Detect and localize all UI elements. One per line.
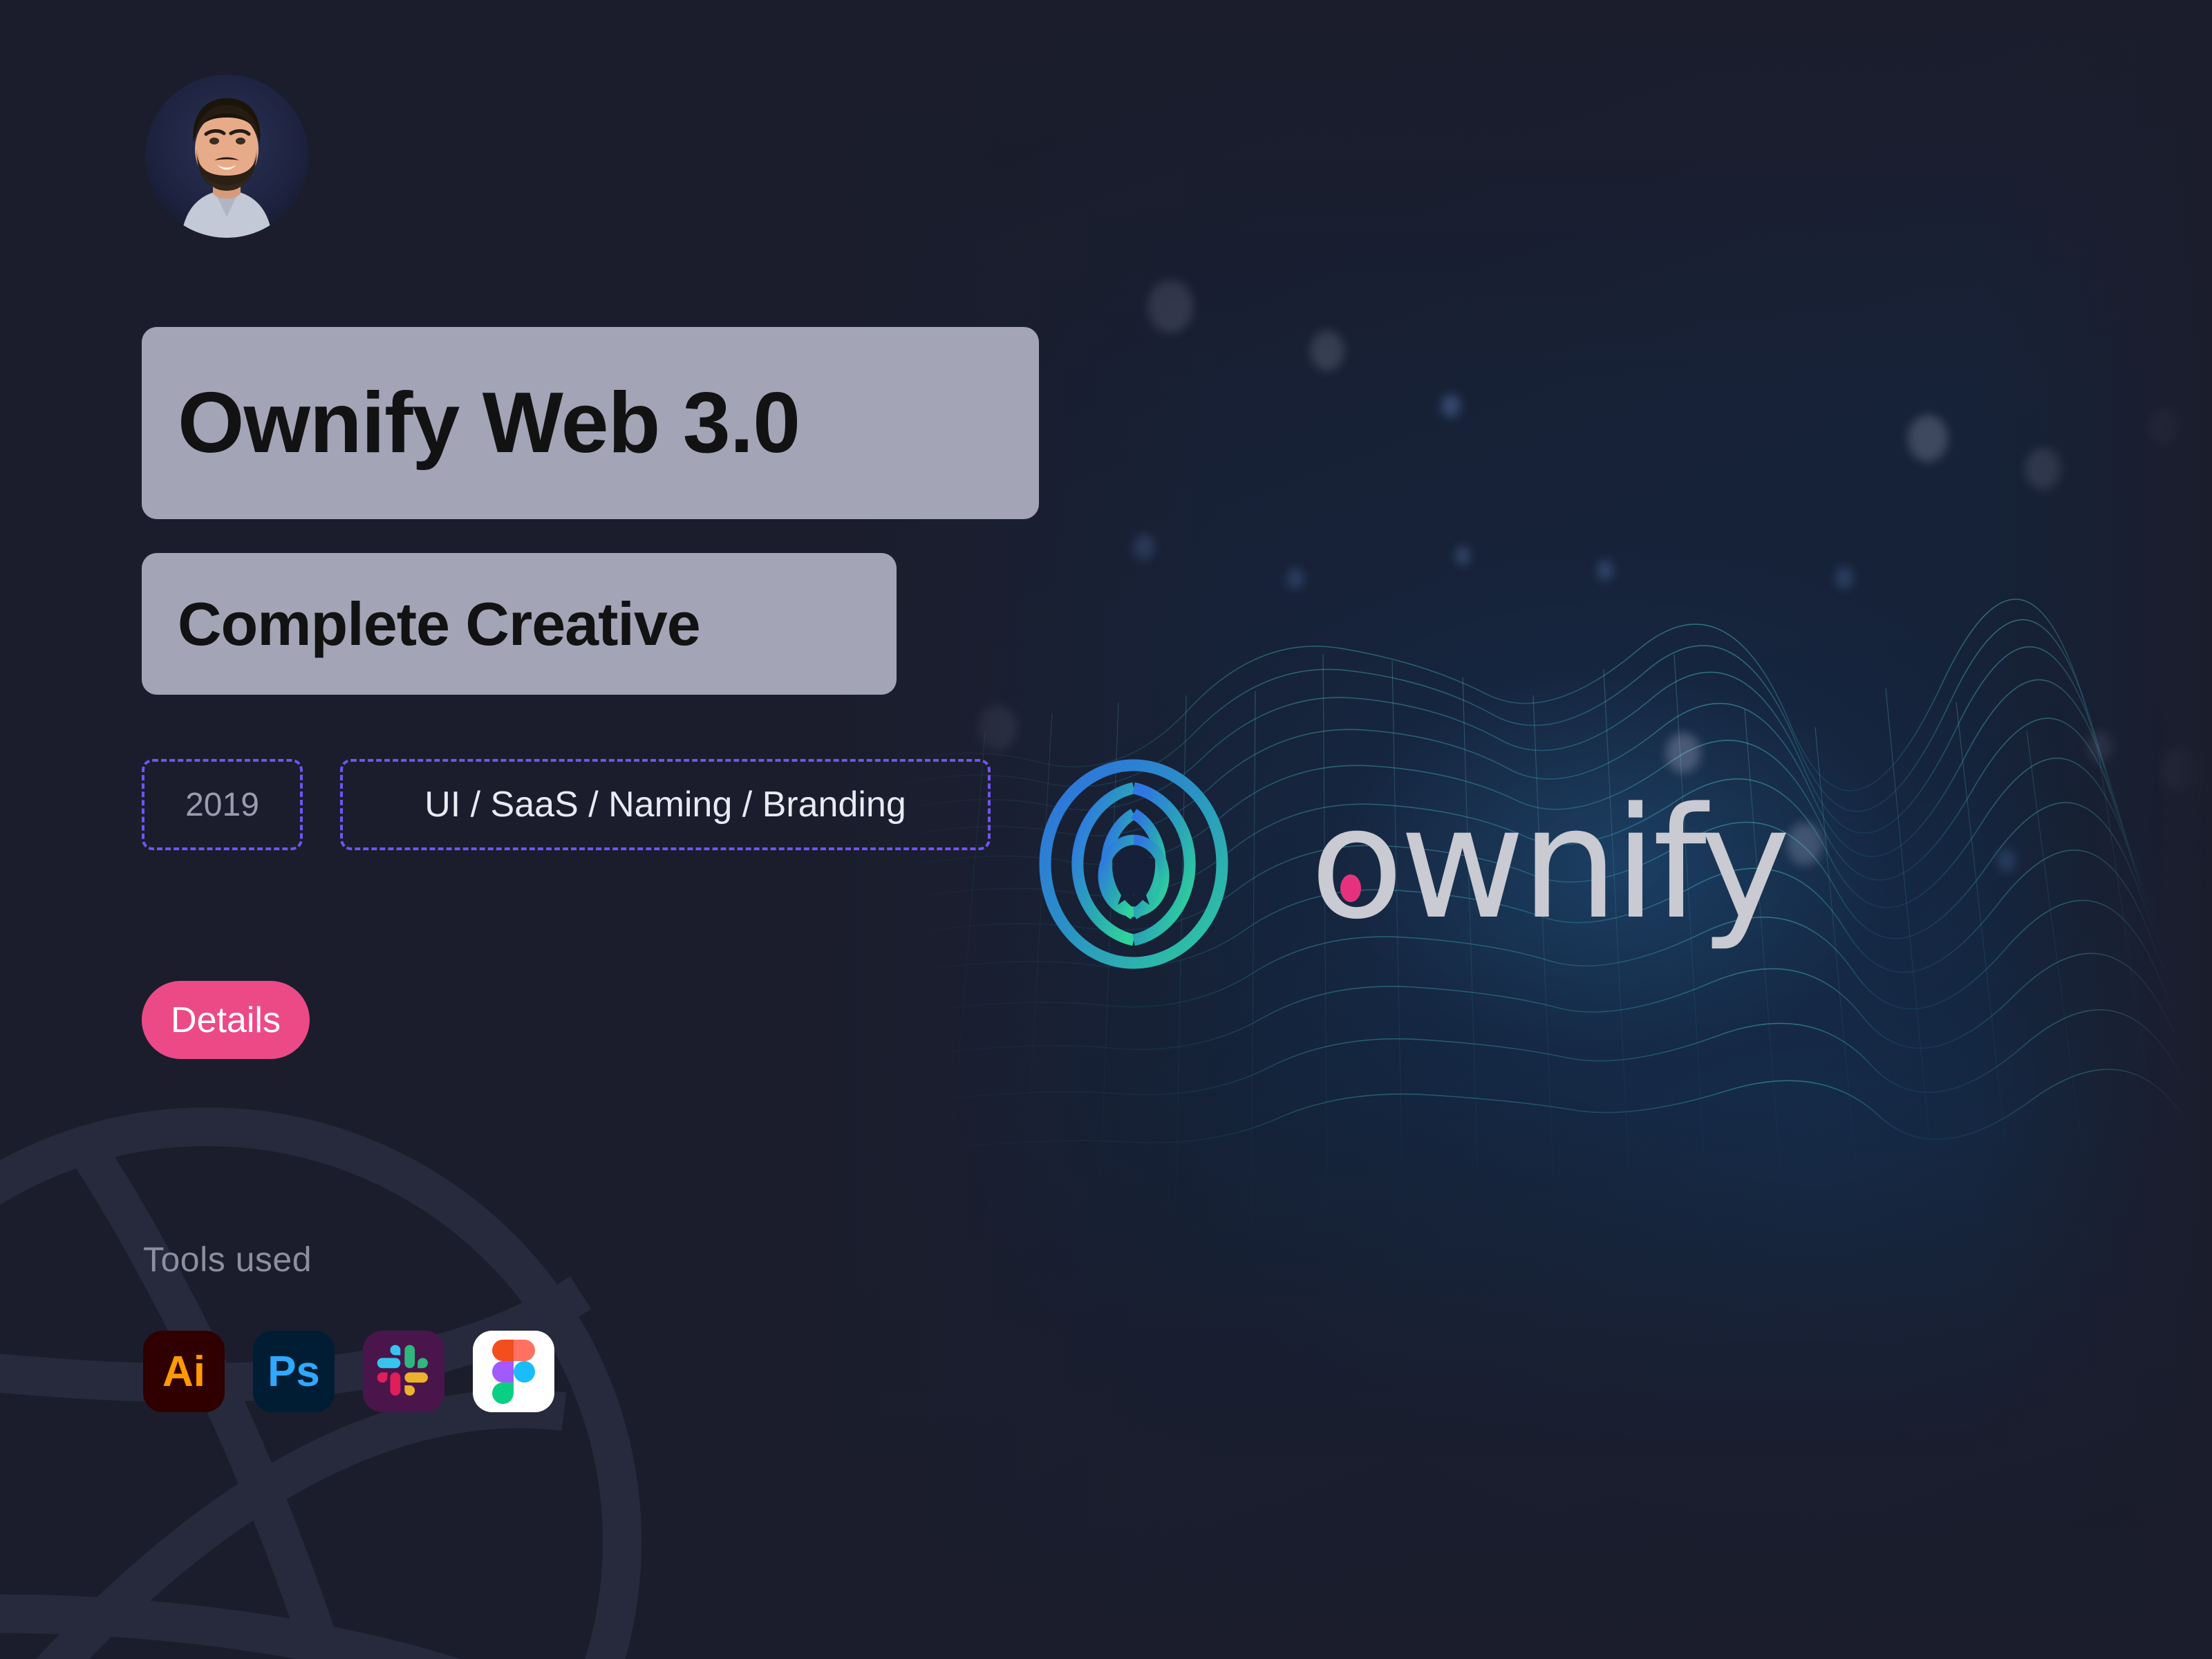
page-title: Ownify Web 3.0 — [142, 327, 1039, 519]
tools-list: Ai Ps — [143, 1331, 554, 1412]
figma-logo-icon — [492, 1340, 535, 1404]
brand-lockup: ownify — [1033, 757, 1786, 971]
project-card: Ownify Web 3.0 Complete Creative 2019 UI… — [0, 0, 2212, 1659]
tools-used-label: Tools used — [143, 1239, 312, 1280]
details-button[interactable]: Details — [142, 981, 310, 1059]
tool-icon-figma[interactable] — [473, 1331, 554, 1412]
tool-icon-slack[interactable] — [363, 1331, 444, 1412]
tool-icon-adobe-illustrator[interactable]: Ai — [143, 1331, 225, 1412]
illustrator-glyph: Ai — [162, 1347, 205, 1396]
ownify-concentric-rings-logo — [1033, 757, 1234, 971]
tag-year: 2019 — [142, 759, 303, 850]
ownify-wordmark: ownify — [1310, 787, 1786, 941]
slack-hash-icon — [375, 1343, 432, 1400]
ownify-wordmark-text: ownify — [1310, 775, 1786, 953]
photoshop-glyph: Ps — [268, 1347, 320, 1396]
avatar[interactable] — [145, 75, 308, 238]
ownify-dot-icon — [1340, 874, 1361, 902]
page-subtitle: Complete Creative — [142, 553, 897, 695]
tag-disciplines: UI / SaaS / Naming / Branding — [340, 759, 991, 850]
avatar-photo — [145, 75, 308, 238]
tool-icon-adobe-photoshop[interactable]: Ps — [253, 1331, 335, 1412]
